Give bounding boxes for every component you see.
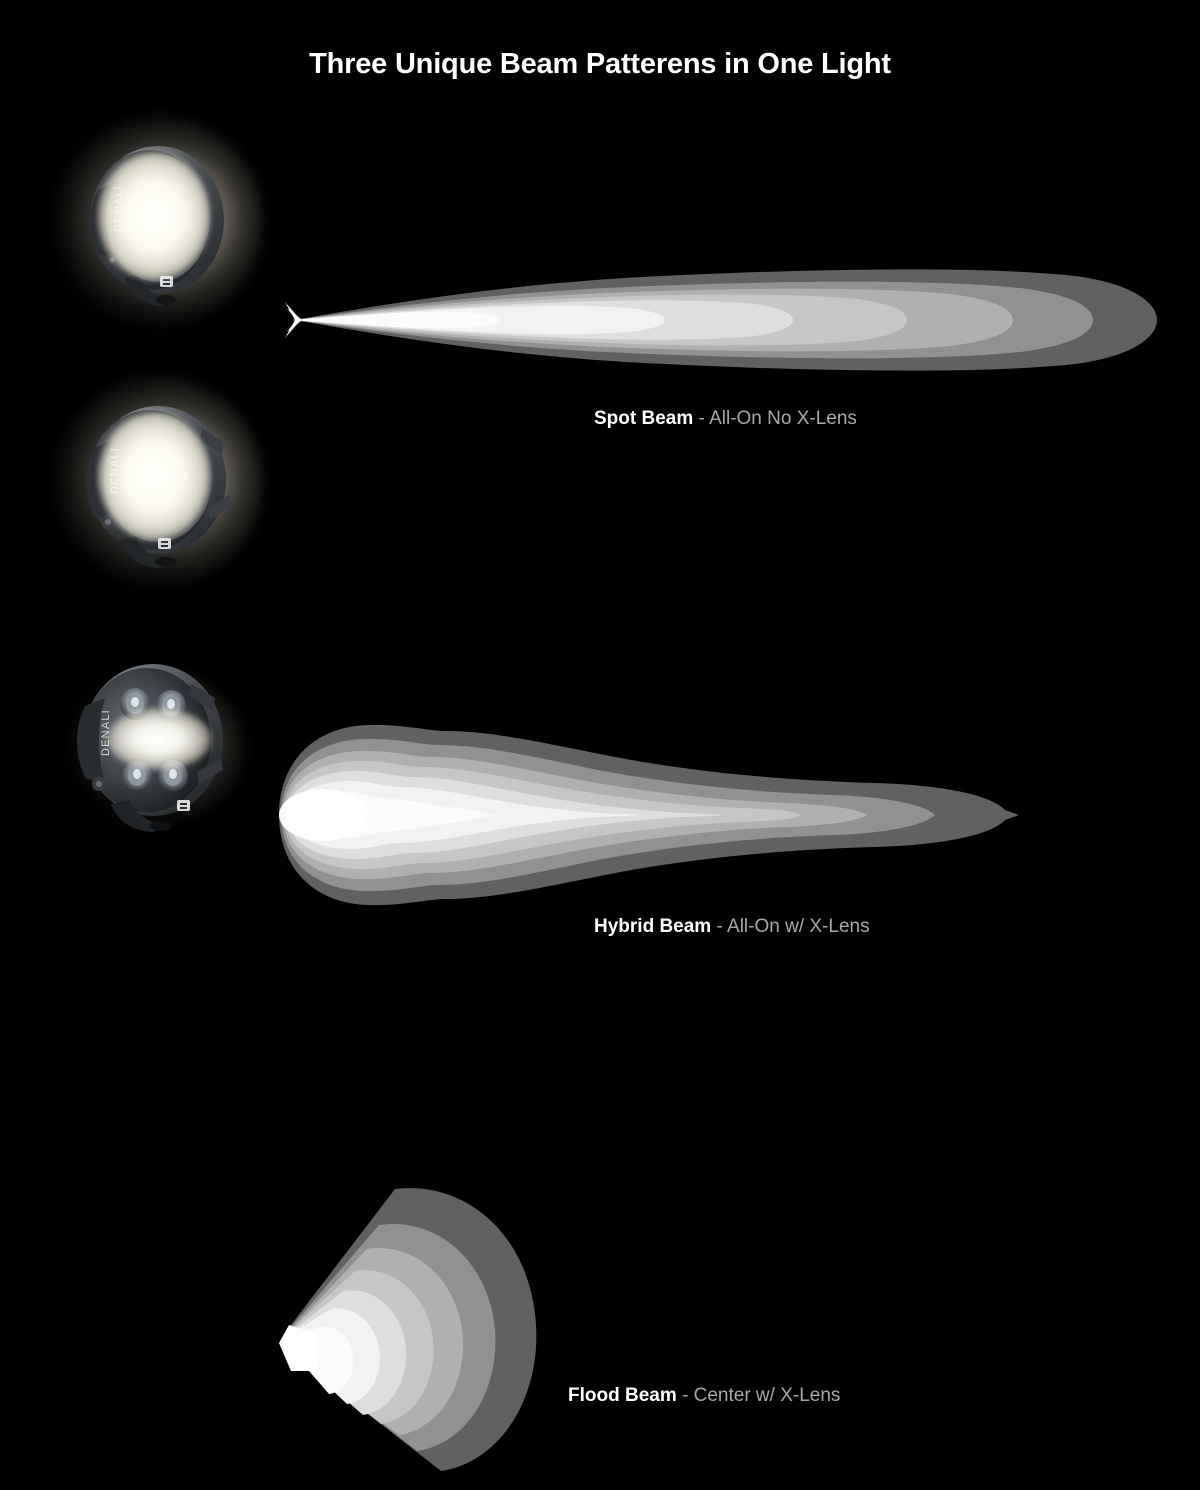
- denali-lamp-body-flood: DENALI: [55, 648, 245, 838]
- light-fixture-flood: DENALI: [55, 648, 245, 838]
- brand-label: DENALI: [109, 447, 121, 494]
- beam-pattern-flood: [275, 1175, 585, 1490]
- brand-label: DENALI: [100, 709, 112, 756]
- denali-lamp-body-hybrid: DENALI: [62, 388, 252, 578]
- caption-hybrid-title: Hybrid Beam: [594, 916, 711, 937]
- beam-row-hybrid: DENALI: [0, 360, 1200, 590]
- caption-flood-subtitle: - Center w/ X-Lens: [677, 1385, 841, 1406]
- caption-flood-title: Flood Beam: [568, 1385, 677, 1406]
- brand-label: DENALI: [113, 185, 125, 232]
- page-title: Three Unique Beam Patterens in One Light: [0, 48, 1200, 81]
- light-fixture-spot: DENALI: [62, 128, 252, 318]
- denali-logo-icon: [160, 276, 173, 287]
- led-optic-icon: [156, 690, 186, 722]
- led-optic-icon: [122, 760, 152, 792]
- caption-hybrid: Hybrid Beam - All-On w/ X-Lens: [594, 916, 870, 938]
- light-fixture-hybrid: DENALI: [62, 388, 252, 578]
- beam-pattern-infographic: Three Unique Beam Patterens in One Light: [0, 0, 1200, 937]
- beam-row-spot: DENALI: [0, 110, 1200, 360]
- led-optic-icon: [120, 688, 150, 720]
- denali-logo-icon: [177, 800, 190, 811]
- denali-logo-icon: [158, 538, 171, 549]
- beam-row-flood: DENALI: [0, 590, 1200, 900]
- denali-lamp-body-spot: DENALI: [62, 128, 252, 318]
- caption-flood: Flood Beam - Center w/ X-Lens: [568, 1385, 840, 1407]
- led-optic-icon: [158, 760, 188, 792]
- caption-hybrid-subtitle: - All-On w/ X-Lens: [711, 916, 869, 937]
